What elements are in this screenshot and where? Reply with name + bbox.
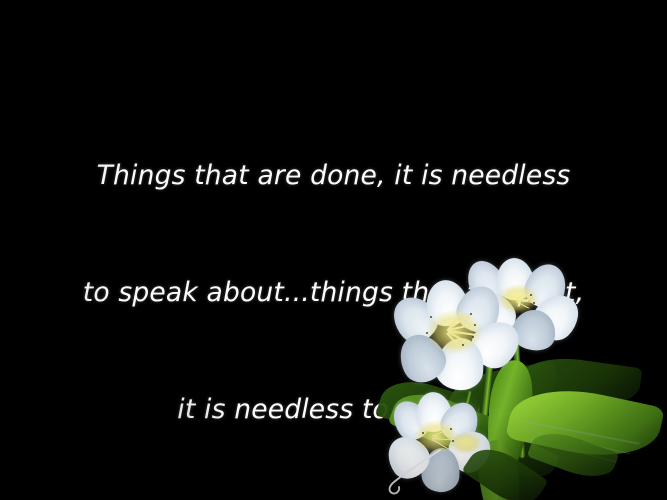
alstroemeria-flower-cluster [370, 240, 667, 500]
flower-main [390, 280, 522, 392]
quote-image-canvas: Things that are done, it is needless to … [0, 0, 667, 500]
quote-line-1: Things that are done, it is needless [0, 156, 667, 195]
pendant-stamen-icon [382, 448, 452, 500]
